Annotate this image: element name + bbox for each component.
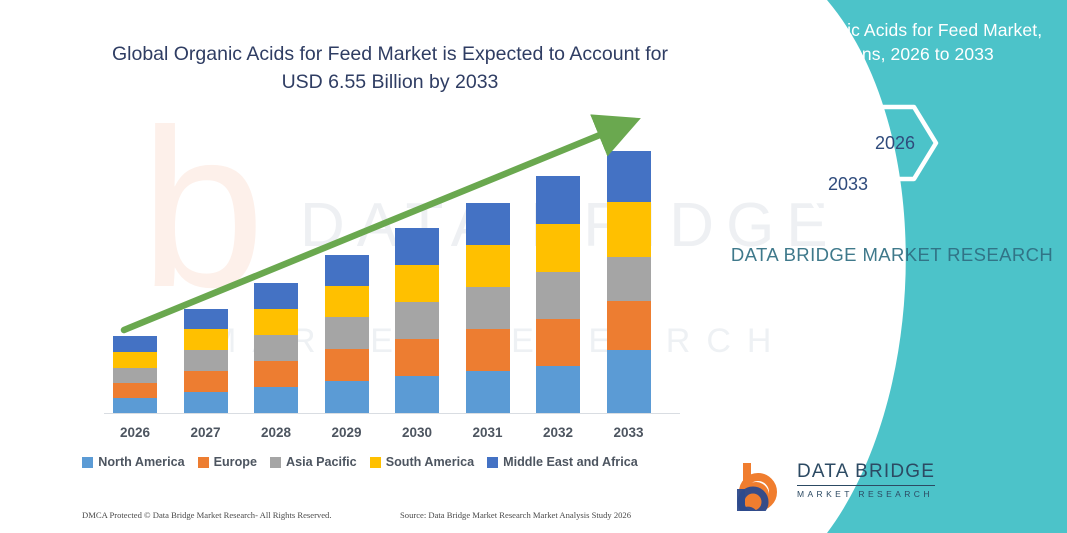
chart-legend: North AmericaEuropeAsia PacificSouth Ame… [0,455,720,469]
footer-source: Source: Data Bridge Market Research Mark… [400,510,631,520]
legend-label: Europe [214,455,257,469]
x-axis-label-2031: 2031 [458,425,518,440]
legend-label: South America [386,455,474,469]
right-info-panel: Global Organic Acids for Feed Market, By… [707,0,1067,533]
x-axis-label-2033: 2033 [599,425,659,440]
company-logo: DATA BRIDGE MARKET RESEARCH [733,455,1033,515]
bar-segment[interactable] [325,349,369,381]
footer: DMCA Protected © Data Bridge Market Rese… [0,508,720,528]
legend-swatch-icon [487,457,498,468]
bar-segment[interactable] [113,383,157,398]
legend-label: Middle East and Africa [503,455,638,469]
trend-arrow-icon [100,110,660,350]
x-axis-label-2026: 2026 [105,425,165,440]
legend-swatch-icon [198,457,209,468]
panel-title: Global Organic Acids for Feed Market, By… [737,18,1047,66]
logo-subtitle: MARKET RESEARCH [797,489,935,499]
x-axis-label-2029: 2029 [317,425,377,440]
legend-item[interactable]: Asia Pacific [270,455,357,469]
bar-segment[interactable] [466,371,510,413]
bar-segment[interactable] [254,387,298,413]
bar-segment[interactable] [395,376,439,413]
x-axis-label-2027: 2027 [176,425,236,440]
bar-segment[interactable] [607,350,651,413]
bar-segment[interactable] [184,371,228,392]
legend-swatch-icon [370,457,381,468]
legend-item[interactable]: North America [82,455,184,469]
x-axis-label-2028: 2028 [246,425,306,440]
legend-label: North America [98,455,184,469]
legend-swatch-icon [270,457,281,468]
legend-item[interactable]: Europe [198,455,257,469]
footer-copyright: DMCA Protected © Data Bridge Market Rese… [82,510,332,520]
bar-segment[interactable] [184,350,228,371]
legend-label: Asia Pacific [286,455,357,469]
bar-segment[interactable] [536,366,580,413]
logo-title: DATA BRIDGE [797,461,935,486]
data-bridge-logo-icon [733,459,791,511]
x-axis-label-2032: 2032 [528,425,588,440]
legend-item[interactable]: Middle East and Africa [487,455,638,469]
panel-brand-text: DATA BRIDGE MARKET RESEARCH [727,242,1057,269]
legend-item[interactable]: South America [370,455,474,469]
hexagon-group: 2026 2033 [707,98,1067,208]
bar-segment[interactable] [113,368,157,383]
logo-text: DATA BRIDGE MARKET RESEARCH [797,461,935,499]
bar-segment[interactable] [254,361,298,387]
hexagon-year-2033: 2033 [797,138,899,230]
bar-segment[interactable] [325,381,369,413]
legend-swatch-icon [82,457,93,468]
hexagon-label-2033: 2033 [797,138,899,230]
bar-segment[interactable] [113,398,157,413]
bar-segment[interactable] [184,392,228,413]
x-axis-line [104,413,680,414]
bar-segment[interactable] [113,352,157,368]
x-axis-label-2030: 2030 [387,425,447,440]
chart-plot-area: 20262027202820292030203120322033 [0,0,720,533]
